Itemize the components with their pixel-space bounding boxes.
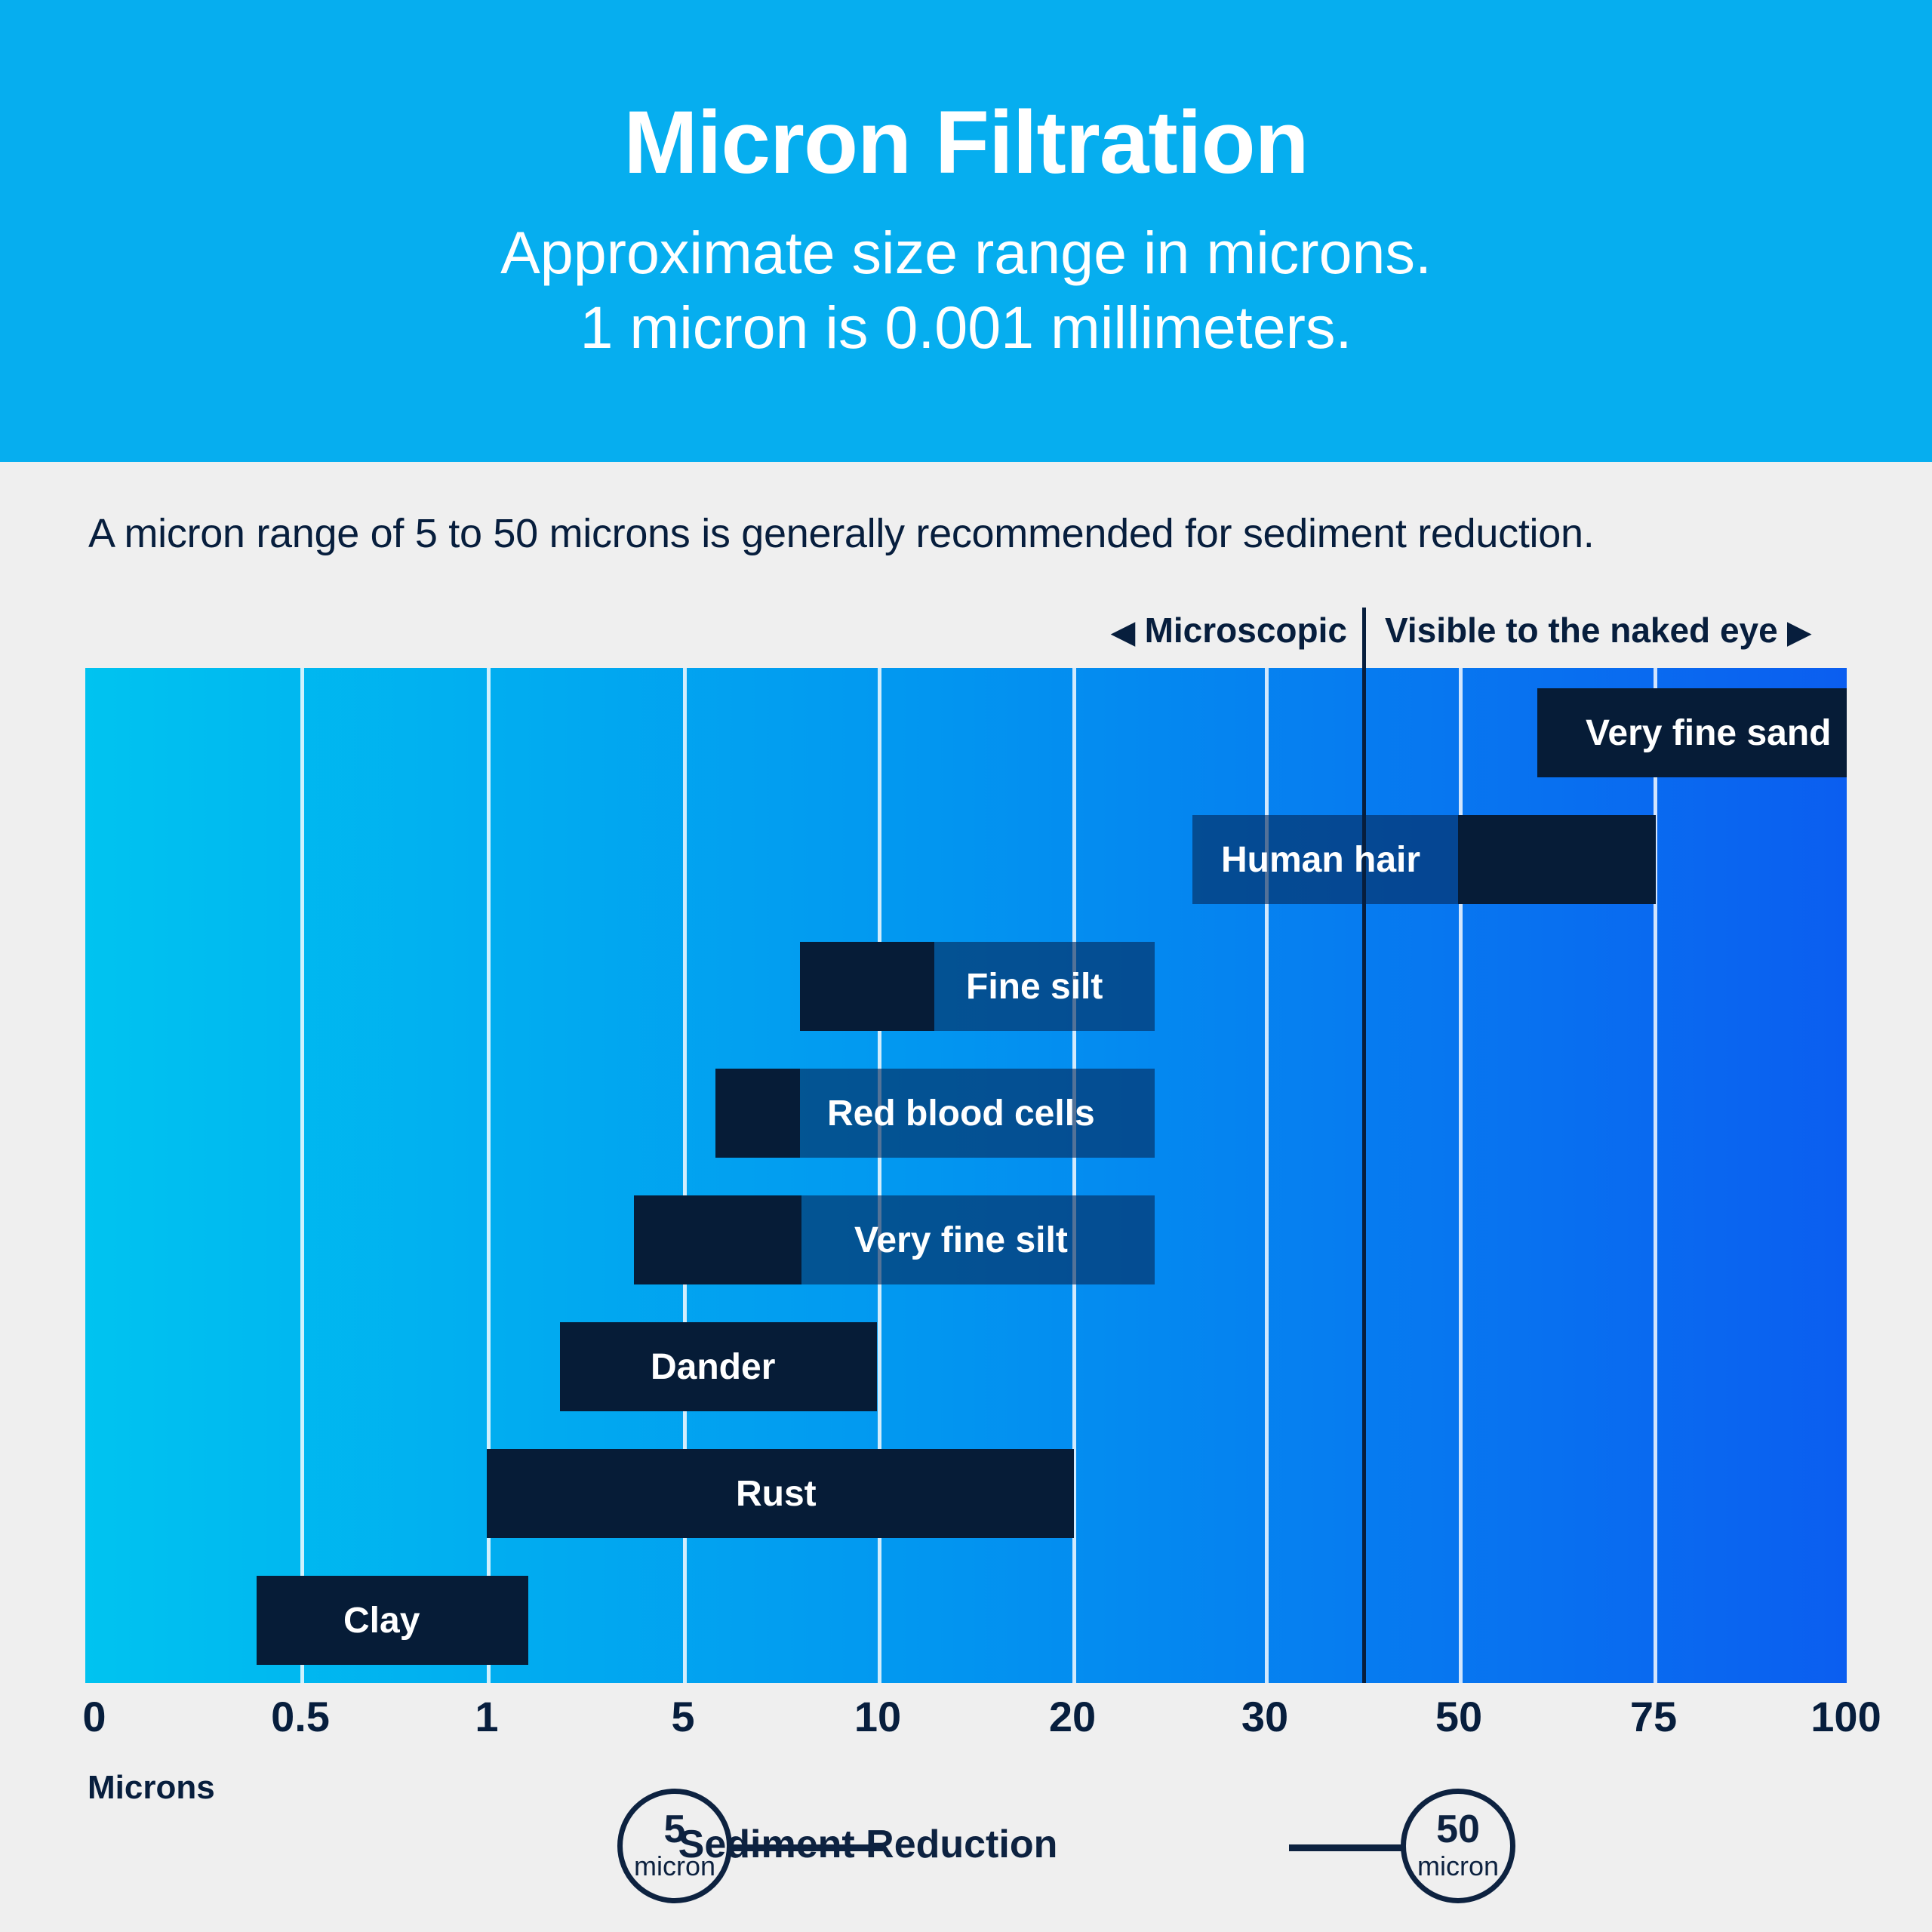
axis-tick-1: 1 <box>475 1692 498 1741</box>
bar-row[interactable]: Clay <box>85 1576 1847 1665</box>
axis-tick-30: 30 <box>1241 1692 1288 1741</box>
axis-tick-10: 10 <box>854 1692 901 1741</box>
sediment-max-value: 50 <box>1436 1810 1480 1849</box>
axis-tick-100: 100 <box>1810 1692 1881 1741</box>
left-arrow-icon: ◀ <box>1112 616 1135 649</box>
scale-legend: ◀ Microscopic Visible to the naked eye ▶ <box>85 610 1847 664</box>
page-title: Micron Filtration <box>623 97 1308 190</box>
axis-tick-20: 20 <box>1049 1692 1096 1741</box>
bar-label-clay: Clay <box>343 1576 420 1665</box>
header-banner: Micron Filtration Approximate size range… <box>0 0 1932 462</box>
axis-tick-75: 75 <box>1630 1692 1677 1741</box>
bar-core-segment <box>1458 815 1656 904</box>
bar-core-segment <box>800 942 934 1031</box>
microscopic-label: Microscopic <box>1145 611 1347 650</box>
sediment-reduction-legend: 5 micron Sediment Reduction 50 micron <box>0 1789 1932 1932</box>
bar-label-red-blood-cells: Red blood cells <box>827 1069 1095 1158</box>
bar-row[interactable]: Rust <box>85 1449 1847 1538</box>
chart-plot-area: Very fine sandHuman hairFine siltRed blo… <box>85 668 1847 1683</box>
right-arrow-icon: ▶ <box>1787 616 1810 649</box>
visible-label-text: Visible to the naked eye <box>1385 611 1778 650</box>
axis-tick-5: 5 <box>671 1692 694 1741</box>
bar-row[interactable]: Very fine sand <box>85 688 1847 777</box>
bar-label-very-fine-silt: Very fine silt <box>854 1195 1068 1284</box>
microscopic-legend: ◀ Microscopic <box>834 610 1347 651</box>
x-axis: 00.5151020305075100 <box>0 1692 1932 1760</box>
bar-row[interactable]: Fine silt <box>85 942 1847 1031</box>
sediment-reduction-label: Sediment Reduction <box>678 1822 1058 1867</box>
bar-label-fine-silt: Fine silt <box>966 942 1103 1031</box>
bar-row[interactable]: Very fine silt <box>85 1195 1847 1284</box>
bar-label-rust: Rust <box>736 1449 817 1538</box>
axis-tick-0: 0 <box>82 1692 106 1741</box>
header-subtitle-line-2: 1 micron is 0.001 millimeters. <box>580 291 1352 365</box>
bar-row[interactable]: Human hair <box>85 815 1847 904</box>
axis-tick-50: 50 <box>1435 1692 1482 1741</box>
bar-row[interactable]: Dander <box>85 1322 1847 1411</box>
sediment-max-unit: micron <box>1417 1849 1499 1883</box>
sediment-max-badge: 50 micron <box>1401 1789 1515 1903</box>
recommendation-text: A micron range of 5 to 50 microns is gen… <box>88 510 1854 557</box>
visibility-divider-line <box>1362 608 1366 1683</box>
header-subtitle-line-1: Approximate size range in microns. <box>500 216 1432 291</box>
bar-row[interactable]: Red blood cells <box>85 1069 1847 1158</box>
axis-tick-0.5: 0.5 <box>271 1692 330 1741</box>
bar-label-very-fine-sand: Very fine sand <box>1586 688 1831 777</box>
visible-legend: Visible to the naked eye ▶ <box>1385 610 1810 651</box>
bar-core-segment <box>715 1069 800 1158</box>
bar-label-dander: Dander <box>651 1322 775 1411</box>
bar-label-human-hair: Human hair <box>1221 815 1420 904</box>
bar-core-segment <box>634 1195 801 1284</box>
